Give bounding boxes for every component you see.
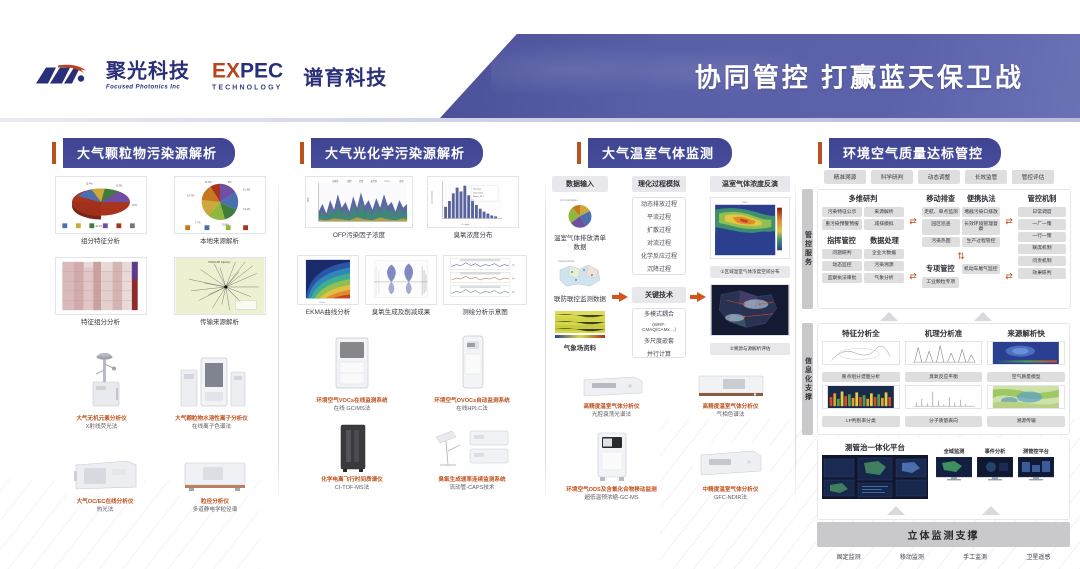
input-caption: 气象场资料 <box>564 345 597 354</box>
section-title-col1: 大气颗粒物污染源解析 <box>63 138 235 168</box>
arrow-head <box>619 292 628 302</box>
support-bar-title: 立体监测支撑 <box>817 522 1070 547</box>
instrument-caption: 大气颗粒物水溶性离子分析仪 在线离子色谱法 <box>175 415 248 431</box>
flow-arrow-1 <box>612 176 628 358</box>
col3-flow: 数据输入 温室气体排放清单统计 温室气体排放清单数据 <box>552 176 790 358</box>
poster-root: 聚光科技 Focused Photonics Inc EXPEC TECHNOL… <box>0 0 1080 569</box>
spacer <box>802 438 813 520</box>
section-accent-bar <box>577 142 581 164</box>
platform-main: 测管治一体化平台 <box>822 442 928 504</box>
instrument-caption: 环境空气VOCs在线监测系统 在线 GC/MS法 <box>316 397 387 413</box>
aqi-model-map <box>987 341 1065 365</box>
platform-inner: 测管治一体化平台 <box>822 442 1065 504</box>
side-card-title: 事件分析 <box>977 448 1013 455</box>
section-title-col3: 大气温室气体监测 <box>588 138 732 168</box>
group-cell[interactable]: 污染特征公示 <box>822 207 862 217</box>
svg-text:PSCF/CWT trajectory: PSCF/CWT trajectory <box>208 261 231 264</box>
instrument-card: 环境空气ODS及含氟化合物移动监测 超低温预浓缩-GC-MS <box>556 429 668 502</box>
instrument-caption: 臭氧生成速率连续监测系统 流动管-CAPS技术 <box>438 476 505 492</box>
control-platform-screen <box>1018 457 1054 481</box>
instrument-caption: 高精度温室气体分析仪 光腔衰荡光谱法 <box>584 403 640 419</box>
analysis-card: 来源解析快 空气质量模型 <box>987 328 1065 430</box>
group-cell[interactable]: 机动车尾气监控 <box>962 264 1001 274</box>
section-header-col2: 大气光化学污染源解析 <box>300 138 483 168</box>
side-card: 全域监测 <box>936 448 972 486</box>
column-separator-1 <box>278 176 279 506</box>
pie-chart: 13.2%9%11.4% 13.1%15.8%7.7%19.7% <box>174 176 266 234</box>
column-greenhouse-gas-monitoring: 数据输入 温室气体排放清单统计 温室气体排放清单数据 <box>552 176 790 502</box>
output-card: PM2.5 ①区域温室气体浓度空间 <box>710 197 790 278</box>
chart-card: 芳香烃烯烃烷烃 卤代烃OVOC其他 OFP OFP污染因子浓度 <box>305 176 413 241</box>
group-items-command-data: 问题研判 企业大数据 动态监控 污染溯源 监察执法审批 气象分析 <box>822 249 904 284</box>
svg-text:OVOC: OVOC <box>384 181 391 183</box>
c4-platform-panel: 测管治一体化平台 <box>817 438 1070 520</box>
analysis-chip[interactable]: 分子质量表向 <box>905 416 983 426</box>
arrow-right-icon <box>690 292 706 302</box>
group-titles-row: 指挥管控 数据处理 <box>822 236 904 246</box>
instrument-card: 粒径分析仪 多道静电学粒径谱 <box>165 455 265 514</box>
group-items-multidim: 污染特征公示 来源解析 重污染预警预报 减排模拟 <box>822 207 904 230</box>
svg-text:O₃ (ppb): O₃ (ppb) <box>461 224 469 226</box>
svg-text:19.7%: 19.7% <box>187 194 195 197</box>
chart-caption: 本地来源解析 <box>200 238 239 247</box>
svg-text:12.4%: 12.4% <box>85 183 93 186</box>
instrument-caption: 大气OC/EC在线分析仪 热光法 <box>77 498 134 514</box>
svg-text:Gaussian: Gaussian <box>473 189 481 191</box>
side-card-title: 测管控平台 <box>1018 448 1054 455</box>
chart-card: 13.2%9%11.4% 13.1%15.8%7.7%19.7% 本地来源解析 <box>169 176 270 247</box>
instrument-card: 高精度温室气体分析仪 气相色谱法 <box>675 372 787 419</box>
instrument-photo-ocec-analyzer <box>66 455 144 495</box>
section-title-col4: 环境空气质量达标管控 <box>829 138 1001 168</box>
section-header-col3: 大气温室气体监测 <box>577 138 732 168</box>
brand-logos: 聚光科技 Focused Photonics Inc EXPEC TECHNOL… <box>34 61 387 92</box>
ozone-formation-violin-chart <box>365 255 437 305</box>
svg-text:8.3%: 8.3% <box>116 185 122 188</box>
mass-spectrum-chart <box>905 385 983 409</box>
instrument-card: 化学电离飞行时间质谱仪 CI-TOF-MS法 <box>297 421 407 492</box>
col3-instruments-bottom: 环境空气ODS及含氟化合物移动监测 超低温预浓缩-GC-MS 中精度温室气体分析… <box>552 429 790 502</box>
chart-card: GaussianData SeriesMean = 46.7 Concentra… <box>427 176 519 241</box>
group-cell[interactable]: 监察执法审批 <box>822 273 862 283</box>
group-cell[interactable]: 一行一策 <box>1018 232 1066 242</box>
svg-text:21%: 21% <box>131 204 137 207</box>
side-card-title: 全域监测 <box>936 448 972 455</box>
process-item: 对流过程 <box>636 236 682 249</box>
instrument-photo-crds-ghg-analyzer <box>576 372 648 400</box>
instrument-method: 气相色谱法 <box>703 411 759 419</box>
output-caption: ①区域温室气体浓度空间分布 <box>710 266 790 278</box>
instrument-name: 大气颗粒物水溶性离子分析仪 <box>175 416 248 422</box>
instrument-card: 高精度温室气体分析仪 光腔衰荡光谱法 <box>556 372 668 419</box>
chart-card: PSCF/CWT trajectory 传输来源解析 <box>169 257 270 328</box>
chart-caption: 臭氧浓度分布 <box>454 232 493 241</box>
up-triangle-icon <box>974 312 992 321</box>
chart-card: VOCs EKMA曲线分析 <box>297 255 359 318</box>
instrument-method: 热光法 <box>77 506 134 514</box>
instrument-caption: 环境空气OVOCs自动监测系统 在线HPLC法 <box>434 397 510 413</box>
instrument-method: CI-TOF-MS法 <box>321 484 383 492</box>
col3-instruments-top: 高精度温室气体分析仪 光腔衰荡光谱法 高精度温室气体分析仪 气相色谱法 <box>552 372 790 419</box>
vertical-double-arrow: ⇅ <box>922 252 1000 261</box>
fpi-cn-name: 聚光科技 <box>106 62 190 82</box>
group-items-mechanism: 日常调度 一厂一策 一行一策 联席机制 问责机制 效果研判 <box>1018 207 1066 279</box>
instrument-method: GFC-NDIR法 <box>703 494 759 502</box>
group-title-multidim: 多维研判 <box>822 194 904 204</box>
col2-instruments-top: 环境空气VOCs在线监测系统 在线 GC/MS法 环境空气OVOCs自动监测系统… <box>292 332 532 413</box>
instrument-name: 环境空气ODS及含氟化合物移动监测 <box>566 487 656 493</box>
chart-card: 臭氧生成及削减成果 <box>365 255 437 318</box>
analysis-title-source: 来源解析快 <box>987 328 1065 339</box>
svg-text:PM2.5: PM2.5 <box>742 202 748 204</box>
group-title-command: 指挥管控 <box>822 236 861 246</box>
event-analysis-screen <box>977 457 1013 481</box>
instrument-method: 在线 GC/MS法 <box>316 405 387 413</box>
ekma-contour-chart: VOCs <box>297 255 359 305</box>
svg-text:7.7%: 7.7% <box>194 221 200 224</box>
group-title-mobile: 移动排查 <box>922 194 960 204</box>
col3-outputs: 温室气体浓度反演 PM2.5 <box>710 176 790 358</box>
chip-precise-tracing[interactable]: 精准溯源 <box>824 170 866 184</box>
double-arrow-icon: ⇄ <box>909 217 917 226</box>
support-items: 固定监测 移动监测 手工监测 卫星遥感 <box>817 552 1070 561</box>
analysis-chip[interactable]: LP判别率分类 <box>822 416 900 426</box>
instrument-photo-ci-tof-ms <box>330 421 374 473</box>
analysis-card: 特征分析全 重点组分谱图分析 <box>822 328 900 430</box>
col2-bottom-charts: VOCs EKMA曲线分析 <box>292 255 532 318</box>
expec-sub: TECHNOLOGY <box>212 85 283 92</box>
c4-arrows-left: ⇄ ⇄ <box>908 194 918 304</box>
flow-head-input: 数据输入 <box>552 176 608 192</box>
group-cell[interactable]: 日常调度 <box>1018 207 1066 217</box>
group-cell[interactable]: 减排模拟 <box>864 219 904 229</box>
c4-group-right: 管控机制 日常调度 一厂一策 一行一策 联席机制 问责机制 效果研判 <box>1018 194 1066 304</box>
instrument-photo-ops-caps-system <box>430 421 514 473</box>
chart-caption: 测绘分析示意图 <box>462 309 508 318</box>
process-item: 化学反应过程 <box>636 249 682 262</box>
group-title-special: 专项管控 <box>922 264 959 274</box>
double-arrow-icon: ⇄ <box>1005 272 1013 281</box>
chart-caption: 组分特征分析 <box>81 238 120 247</box>
chart-caption: 特征组分分析 <box>81 319 120 328</box>
arrow-tail <box>612 295 619 299</box>
group-title-portable: 便携执法 <box>963 194 1001 204</box>
instrument-card: 环境空气OVOCs自动监测系统 在线HPLC法 <box>417 332 527 413</box>
svg-text:Mean = 46.7: Mean = 46.7 <box>473 196 484 198</box>
chart-card: 特征组分分析 <box>50 257 151 328</box>
voc-pattern-heatmap <box>822 385 900 409</box>
instrument-name: 化学电离飞行时间质谱仪 <box>321 477 383 483</box>
side-label-info-support: 信息化支撑 <box>802 323 813 435</box>
up-triangle-icon <box>982 506 1000 515</box>
up-triangle-icon <box>880 312 898 321</box>
arrow-right-icon <box>612 292 628 302</box>
c4-platform-row: 测管治一体化平台 <box>802 438 1070 520</box>
column-particulate-analysis: 12.4%8.3% 21%46.1% 组分特征分析 <box>50 176 270 514</box>
group-cell[interactable]: 重污染预警预报 <box>822 219 862 229</box>
side-card: 事件分析 <box>977 448 1013 486</box>
chart-caption: EKMA曲线分析 <box>306 309 350 318</box>
dispersion-map <box>987 385 1065 409</box>
instrument-name: 环境空气OVOCs自动监测系统 <box>434 398 510 404</box>
svg-text:11.4%: 11.4% <box>243 189 251 192</box>
flow-head-output: 温室气体浓度反演 <box>710 176 790 192</box>
col1-chart-grid: 12.4%8.3% 21%46.1% 组分特征分析 <box>50 176 270 328</box>
key-tech-item: (WRF-CMAQ/CAMx…) <box>636 320 682 334</box>
group-cell[interactable]: 动态监控 <box>822 261 862 271</box>
group-cell[interactable]: 效果研判 <box>1018 268 1066 278</box>
platform-side-cards: 全域监测 事件分析 <box>936 442 1054 486</box>
instrument-method: 流动管-CAPS技术 <box>438 484 505 492</box>
group-cell[interactable]: 问责机制 <box>1018 256 1066 266</box>
ozone-concentration-histogram-chart: GaussianData SeriesMean = 46.7 Concentra… <box>427 176 519 228</box>
monitoring-network-map: 区域联防联控监测网络 <box>552 258 608 292</box>
platform-title: 测管治一体化平台 <box>822 442 928 453</box>
ghg-concentration-map: PM2.5 <box>710 197 790 259</box>
process-item: 动态排放过程 <box>636 197 682 210</box>
instrument-card: 臭氧生成速率连续监测系统 流动管-CAPS技术 <box>417 421 527 492</box>
svg-text:46.1%: 46.1% <box>95 225 103 228</box>
input-card: 气象场资料 <box>552 309 608 354</box>
analysis-chip[interactable]: 溯源传输 <box>987 416 1065 426</box>
col2-top-charts: 芳香烃烯烃烷烃 卤代烃OVOC其他 OFP OFP污染因子浓度 <box>292 176 532 241</box>
group-cell[interactable]: 污染溯源 <box>864 261 904 271</box>
support-item-satellite: 卫星遥感 <box>1026 552 1050 561</box>
expec-wordmark: EXPEC TECHNOLOGY <box>212 61 283 92</box>
instrument-photo-gfc-ndir-analyzer <box>693 443 769 483</box>
region-monitor-screen <box>936 457 972 481</box>
instrument-method: 在线离子色谱法 <box>175 423 248 431</box>
section-header-col4: 环境空气质量达标管控 <box>818 138 1001 168</box>
chart-caption: 传输来源解析 <box>200 319 239 328</box>
group-special-item2: 工业颗粒专项 <box>922 277 959 287</box>
emission-inventory-pie-chart: 温室气体排放清单统计 <box>552 197 608 231</box>
group-cell[interactable]: 气象分析 <box>864 273 904 283</box>
column-separator-3 <box>795 176 796 506</box>
analysis-chip[interactable]: 空气质量模型 <box>987 372 1065 382</box>
fpi-en-name: Focused Photonics Inc <box>106 85 190 91</box>
section-accent-bar <box>52 142 56 164</box>
svg-text:ppb: ppb <box>512 291 515 293</box>
group-cell[interactable]: 长效环境管理督察 <box>962 219 1000 235</box>
expec-top: EXPEC <box>212 61 283 82</box>
instrument-photo-ods-gc-ms <box>588 429 636 483</box>
process-item: 扩散过程 <box>636 223 682 236</box>
side-label-control-service: 管控服务 <box>802 189 813 309</box>
header-underline <box>0 118 1080 122</box>
instrument-card: 环境空气VOCs在线监测系统 在线 GC/MS法 <box>297 332 407 413</box>
group-title-data: 数据处理 <box>865 236 904 246</box>
section-accent-bar <box>818 142 822 164</box>
meteorological-field-chart <box>552 309 608 341</box>
group-cell[interactable]: 联席机制 <box>1018 244 1066 254</box>
page-header: 聚光科技 Focused Photonics Inc EXPEC TECHNOL… <box>0 34 1080 118</box>
chart-card: ppbppbppb 测绘分析示意图 <box>443 255 527 318</box>
group-title-mechanism: 管控机制 <box>1018 194 1066 204</box>
analysis-chip[interactable]: 臭氧反应平衡 <box>905 372 983 382</box>
input-card: 区域联防联控监测网络 联防联控监测数据 <box>552 258 608 305</box>
svg-text:ppb: ppb <box>512 278 515 280</box>
key-tech-item: 多尺度嵌套 <box>636 334 682 347</box>
c4-up-arrows-1 <box>802 312 1070 321</box>
instrument-name: 大气无机元素分析仪 <box>76 416 126 422</box>
arrow-tail <box>690 295 697 299</box>
chip-control-evaluation[interactable]: 管控评估 <box>1012 170 1054 184</box>
c4-body: 管控服务 多维研判 污染特征公示 来源解析 重污染预警预报 减排模拟 指挥管控 … <box>802 189 1070 309</box>
c4-analysis-row: 信息化支撑 特征分析全 重点组分谱图分析 <box>802 323 1070 435</box>
col1-instruments-top: 大气无机元素分析仪 X射线荧光法 大气颗粒物水溶性离子分析仪 在 <box>50 350 270 431</box>
side-card: 测管控平台 <box>1018 448 1054 486</box>
instrument-name: 大气OC/EC在线分析仪 <box>77 499 134 505</box>
col3-inputs: 数据输入 温室气体排放清单统计 温室气体排放清单数据 <box>552 176 608 358</box>
c4-arrows-right: ⇄ ⇄ <box>1004 194 1014 304</box>
instrument-caption: 化学电离飞行时间质谱仪 CI-TOF-MS法 <box>321 476 383 492</box>
instrument-name: 中精度温室气体分析仪 <box>703 487 759 493</box>
instrument-name: 粒径分析仪 <box>201 499 229 505</box>
fpi-logo-icon <box>34 63 92 89</box>
svg-text:ppb: ppb <box>512 264 515 266</box>
process-list: 动态排放过程 平流过程 扩散过程 对流过程 化学反应过程 沉降过程 <box>632 197 686 275</box>
double-arrow-icon: ⇄ <box>1005 217 1013 226</box>
c4-main-panel: 多维研判 污染特征公示 来源解析 重污染预警预报 减排模拟 指挥管控 数据处理 … <box>817 189 1071 309</box>
svg-text:13.2%: 13.2% <box>204 181 212 184</box>
instrument-photo-vocs-online-gcms <box>326 332 378 394</box>
svg-text:VOCs: VOCs <box>319 302 325 304</box>
group-cell[interactable]: 一厂一策 <box>1018 219 1066 229</box>
chart-caption: OFP污染因子浓度 <box>333 232 385 241</box>
instrument-photo-gc-ghg-analyzer <box>693 372 769 400</box>
source-attribution-map <box>710 284 790 336</box>
support-item-mobile: 移动监测 <box>900 552 924 561</box>
instrument-caption: 粒径分析仪 多道静电学粒径谱 <box>193 498 238 514</box>
double-arrow-vertical-icon: ⇅ <box>957 252 965 261</box>
c4-up-arrows-2 <box>822 506 1065 515</box>
key-tech-item: 多模式耦合 <box>636 307 682 320</box>
expec-pec: PEC <box>240 60 283 83</box>
col3-process: 理化过程模拟 动态排放过程 平流过程 扩散过程 对流过程 化学反应过程 沉降过程… <box>632 176 686 358</box>
timeseries-panels-chart: ppbppbppb <box>443 255 527 305</box>
instrument-card: 大气无机元素分析仪 X射线荧光法 <box>54 350 150 431</box>
instrument-photo-water-soluble-ion-analyzer <box>171 350 253 412</box>
column-separator-2 <box>545 176 546 506</box>
control-room-screens <box>822 455 928 499</box>
section-title-col2: 大气光化学污染源解析 <box>311 138 483 168</box>
group-cell[interactable]: 工业颗粒专项 <box>922 277 959 287</box>
process-item: 平流过程 <box>636 210 682 223</box>
group-items-mobile-portable: 走航、单点监测 堵截污染口排放 园区巡查 长效环境管理督察 污染热图 生产过程管… <box>922 207 1000 247</box>
column-photochemical-analysis: 芳香烃烯烃烷烃 卤代烃OVOC其他 OFP OFP污染因子浓度 <box>292 176 532 492</box>
instrument-photo-ovocs-hplc <box>451 332 493 394</box>
col1-instruments-bottom: 大气OC/EC在线分析仪 热光法 粒径分析仪 多道静电学粒径谱 <box>50 455 270 514</box>
c4-group-middle: 移动排查 便携执法 走航、单点监测 堵截污染口排放 园区巡查 长效环境管理督察 … <box>922 194 1000 304</box>
up-triangle-icon <box>887 506 905 515</box>
instrument-method: 多道静电学粒径谱 <box>193 506 238 514</box>
instrument-photo-air-inorganic-element-analyzer <box>71 350 133 412</box>
instrument-method: 光腔衰荡光谱法 <box>584 411 640 419</box>
group-cell[interactable]: 来源解析 <box>864 207 904 217</box>
input-card: 温室气体排放清单统计 温室气体排放清单数据 <box>552 197 608 253</box>
group-cell[interactable]: 企业大数据 <box>864 249 904 259</box>
instrument-method: X射线荧光法 <box>76 423 126 431</box>
flow-head-process: 理化过程模拟 <box>632 176 686 192</box>
analysis-chip[interactable]: 重点组分谱图分析 <box>822 372 900 382</box>
section-accent-bar <box>300 142 304 164</box>
spectrum-chart <box>822 341 900 365</box>
instrument-method: 超低温预浓缩-GC-MS <box>566 494 656 502</box>
output-card: ②溯源与源解析评估 <box>710 284 790 355</box>
ofp-stacked-area-chart: 芳香烃烯烃烷烃 卤代烃OVOC其他 OFP <box>305 176 413 228</box>
instrument-name: 高精度温室气体分析仪 <box>584 404 640 410</box>
instrument-card: 中精度温室气体分析仪 GFC-NDIR法 <box>675 443 787 502</box>
svg-text:Data Series: Data Series <box>473 191 483 194</box>
group-cell[interactable]: 污染热图 <box>922 237 960 247</box>
group-cell[interactable]: 堵截污染口排放 <box>962 207 1000 217</box>
col2-instruments-bottom: 化学电离飞行时间质谱仪 CI-TOF-MS法 臭氧生成速率连续 <box>292 421 532 492</box>
group-titles-row: 移动排查 便携执法 <box>922 194 1000 204</box>
analysis-card: 机理分析准 臭氧反应平衡 <box>905 328 983 430</box>
group-cell[interactable]: 走航、单点监测 <box>922 207 960 217</box>
instrument-name: 臭氧生成速率连续监测系统 <box>438 477 505 483</box>
instrument-card: 大气OC/EC在线分析仪 热光法 <box>55 455 155 514</box>
process-item: 沉降过程 <box>636 262 682 275</box>
output-caption: ②溯源与源解析评估 <box>710 343 790 355</box>
instrument-caption: 中精度温室气体分析仪 GFC-NDIR法 <box>703 486 759 502</box>
flow-arrow-2 <box>690 176 706 358</box>
instrument-caption: 高精度温室气体分析仪 气相色谱法 <box>703 403 759 419</box>
analysis-title-feature: 特征分析全 <box>822 328 900 339</box>
group-cell[interactable]: 生产过程管控 <box>962 237 1000 247</box>
input-caption: 温室气体排放清单数据 <box>552 235 608 253</box>
group-cell[interactable]: 问题研判 <box>822 249 862 259</box>
instrument-photo-particle-sizer <box>177 455 253 495</box>
chart-caption: 臭氧生成及削减成果 <box>372 309 431 318</box>
group-cell[interactable]: 园区巡查 <box>922 219 960 235</box>
key-tech-list: 多模式耦合 (WRF-CMAQ/CAMx…) 多尺度嵌套 并行计算 <box>632 308 686 358</box>
input-caption: 联防联控监测数据 <box>554 296 606 305</box>
peaks-chart <box>905 341 983 365</box>
svg-text:OFP: OFP <box>308 197 310 202</box>
instrument-method: 在线HPLC法 <box>434 405 510 413</box>
page-title: 协同管控 打赢蓝天保卫战 <box>695 58 1024 95</box>
key-tech-head: 关键技术 <box>632 287 686 303</box>
chart-card: 12.4%8.3% 21%46.1% 组分特征分析 <box>50 176 151 247</box>
c4-support: 立体监测支撑 固定监测 移动监测 手工监测 卫星遥感 <box>817 522 1070 561</box>
chip-longterm-supervision[interactable]: 长效监管 <box>965 170 1007 184</box>
arrow-head <box>697 292 706 302</box>
chip-dynamic-adjust[interactable]: 动态调整 <box>918 170 960 184</box>
fpi-wordmark: 聚光科技 Focused Photonics Inc <box>106 62 190 91</box>
c4-analysis-panel: 特征分析全 重点组分谱图分析 <box>817 323 1070 435</box>
instrument-caption: 环境空气ODS及含氟化合物移动监测 超低温预浓缩-GC-MS <box>566 486 656 502</box>
instrument-name: 高精度温室气体分析仪 <box>703 404 759 410</box>
svg-text:13.1%: 13.1% <box>243 208 251 211</box>
instrument-card: 大气颗粒物水溶性离子分析仪 在线离子色谱法 <box>157 350 267 431</box>
analysis-title-mechanism: 机理分析准 <box>905 328 983 339</box>
column-air-quality-compliance: 精准溯源 科学研判 动态调整 长效监管 管控评估 管控服务 多维研判 污染特征公… <box>802 170 1070 561</box>
expec-ex: EX <box>212 60 240 83</box>
support-item-fixed: 固定监测 <box>837 552 861 561</box>
instrument-caption: 大气无机元素分析仪 X射线荧光法 <box>76 415 126 431</box>
svg-text:Concentration: Concentration <box>431 190 434 204</box>
support-item-manual: 手工监测 <box>963 552 987 561</box>
section-header-col1: 大气颗粒物污染源解析 <box>52 138 235 168</box>
group-special-control: 专项管控 机动车尾气监控 <box>922 264 1000 274</box>
key-tech-item: 并行计算 <box>636 347 682 360</box>
correlation-heatmap-chart <box>55 257 147 315</box>
chip-scientific-judgement[interactable]: 科学研判 <box>871 170 913 184</box>
pie-3d-chart: 12.4%8.3% 21%46.1% <box>55 176 147 234</box>
c4-group-left: 多维研判 污染特征公示 来源解析 重污染预警预报 减排模拟 指挥管控 数据处理 … <box>822 194 904 304</box>
